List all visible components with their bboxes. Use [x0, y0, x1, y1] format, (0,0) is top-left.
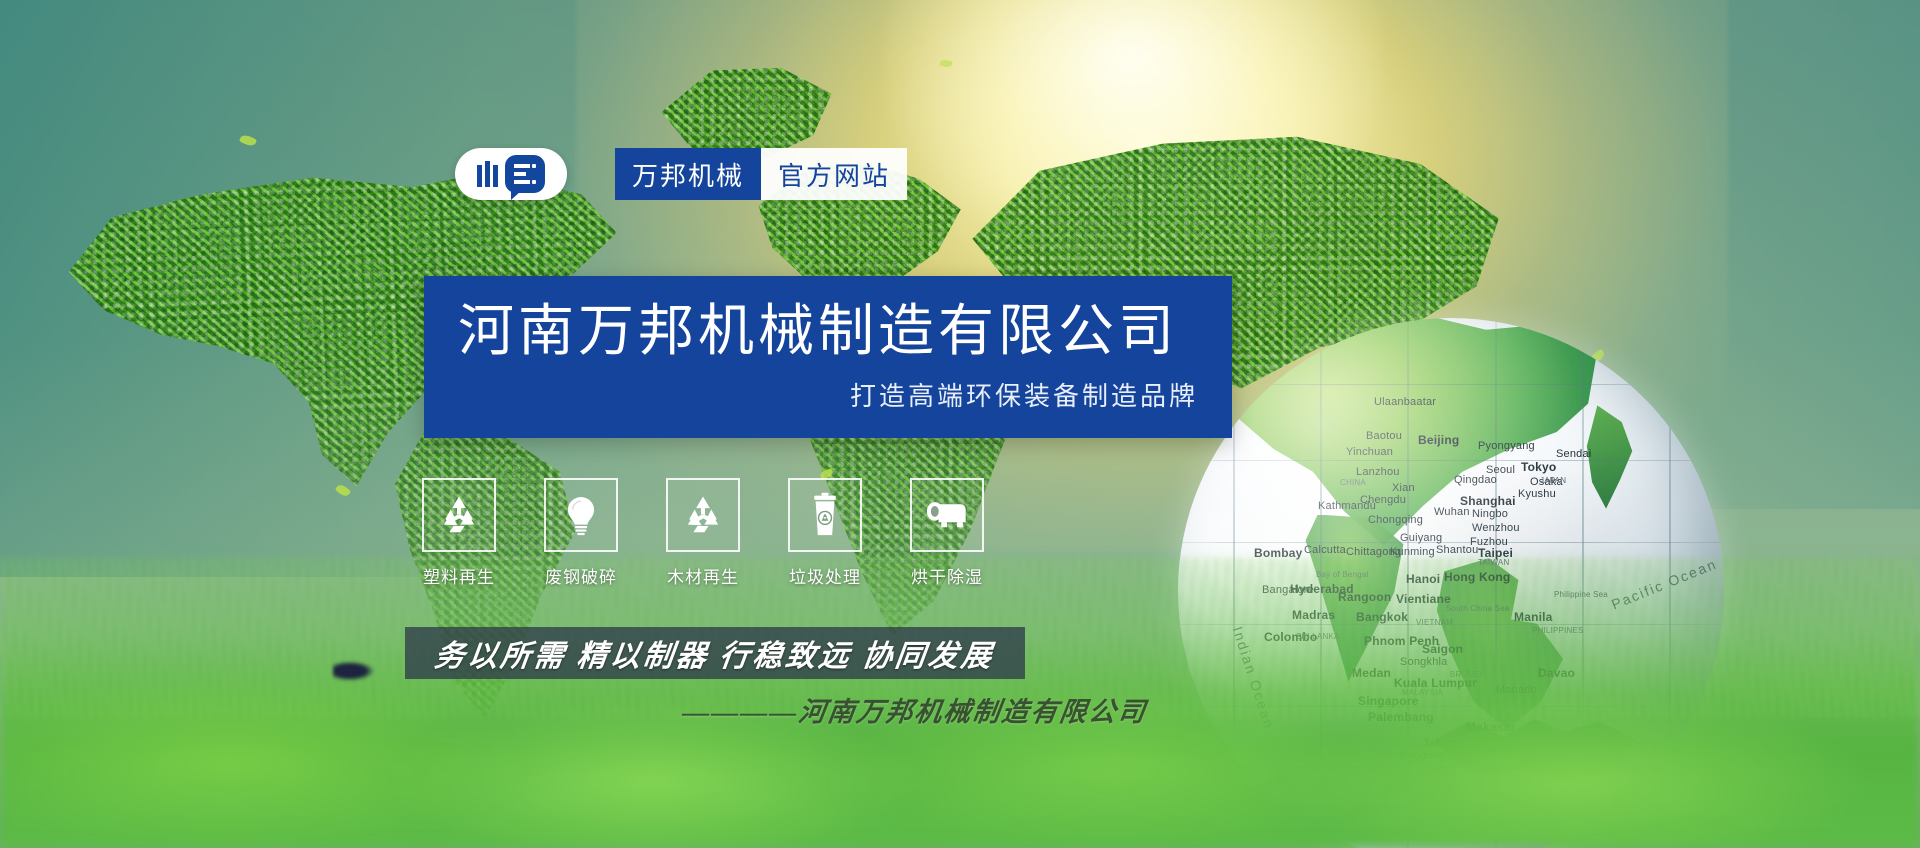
page-subtitle: 打造高端环保装备制造品牌 [424, 362, 1232, 413]
trash-bin-icon [805, 492, 845, 538]
feature-icon-box [788, 478, 862, 552]
globe-city-label: Wenzhou [1472, 522, 1520, 534]
globe-region-label: CHINA [1340, 478, 1366, 487]
feature-icon-box [666, 478, 740, 552]
page-title: 河南万邦机械制造有限公司 [424, 301, 1232, 361]
feature-item-drying-dehumidifying[interactable]: 烘干除湿 [908, 478, 986, 588]
feature-icon-box [544, 478, 618, 552]
slogan-bar: 务以所需 精以制器 行稳致远 协同发展 [405, 627, 1025, 679]
feature-label: 垃圾处理 [789, 563, 861, 588]
globe-city-label: Baotou [1366, 430, 1402, 442]
feature-item-plastic-recycling[interactable]: 塑料再生 [420, 478, 498, 588]
hero-title-panel: 河南万邦机械制造有限公司 打造高端环保装备制造品牌 [424, 276, 1232, 438]
globe-city-label: Tokyo [1521, 460, 1556, 474]
globe-city-label: Pyongyang [1478, 440, 1535, 452]
globe-city-label: Sendai [1556, 448, 1591, 460]
globe-city-label: Guiyang [1400, 532, 1442, 544]
feature-item-waste-treatment[interactable]: 垃圾处理 [786, 478, 864, 588]
feature-icon-row: 塑料再生 废钢破碎 [420, 478, 986, 588]
feature-icon-box [910, 478, 984, 552]
feature-label: 烘干除湿 [911, 563, 983, 588]
globe-city-label: Lanzhou [1356, 466, 1400, 478]
feature-icon-box [422, 478, 496, 552]
lightbulb-icon [559, 493, 603, 537]
recycle-icon [681, 493, 725, 537]
feature-label: 木材再生 [667, 563, 739, 588]
tab-official-website[interactable]: 官方网站 [761, 148, 907, 200]
feature-label: 塑料再生 [423, 563, 495, 588]
logo-w-icon [477, 161, 498, 187]
globe-city-label: Kathmandu [1318, 500, 1376, 512]
wb-logo-icon[interactable] [455, 148, 567, 200]
tab-label: 官方网站 [778, 156, 890, 193]
globe-city-label: Kyushu [1518, 488, 1556, 500]
slogan-text: 务以所需 精以制器 行稳致远 协同发展 [433, 631, 998, 675]
globe-city-label: Xian [1392, 482, 1415, 494]
brand-bar: 万邦机械 官方网站 [455, 148, 907, 200]
hero-banner: UlaanbaatarBeijingBaotouYinchuanLanzhouP… [0, 0, 1920, 848]
nav-tabs: 万邦机械 官方网站 [615, 148, 907, 200]
tab-label: 万邦机械 [632, 156, 744, 193]
feature-label: 废钢破碎 [545, 563, 617, 588]
globe-city-label: Chongqing [1368, 514, 1423, 526]
globe-city-label: Wuhan [1434, 506, 1470, 518]
globe-city-label: Beijing [1418, 433, 1459, 447]
globe-land-japan [1571, 405, 1658, 525]
recycle-icon [437, 493, 481, 537]
slogan-signature: ————河南万邦机械制造有限公司 [652, 690, 1177, 729]
globe-city-label: Qingdao [1454, 474, 1497, 486]
globe-city-label: Ulaanbaatar [1374, 396, 1436, 408]
logo-b-speech-bubble-icon [505, 155, 545, 193]
dryer-machine-icon [924, 497, 970, 533]
globe-region-label: JAPAN [1540, 476, 1566, 485]
globe-city-label: Yinchuan [1346, 446, 1393, 458]
globe-city-label: Ningbo [1472, 508, 1508, 520]
grass-insect [333, 661, 375, 681]
tab-wanbang-machinery[interactable]: 万邦机械 [615, 148, 761, 200]
feature-item-scrap-steel-crushing[interactable]: 废钢破碎 [542, 478, 620, 588]
feature-item-wood-recycling[interactable]: 木材再生 [664, 478, 742, 588]
